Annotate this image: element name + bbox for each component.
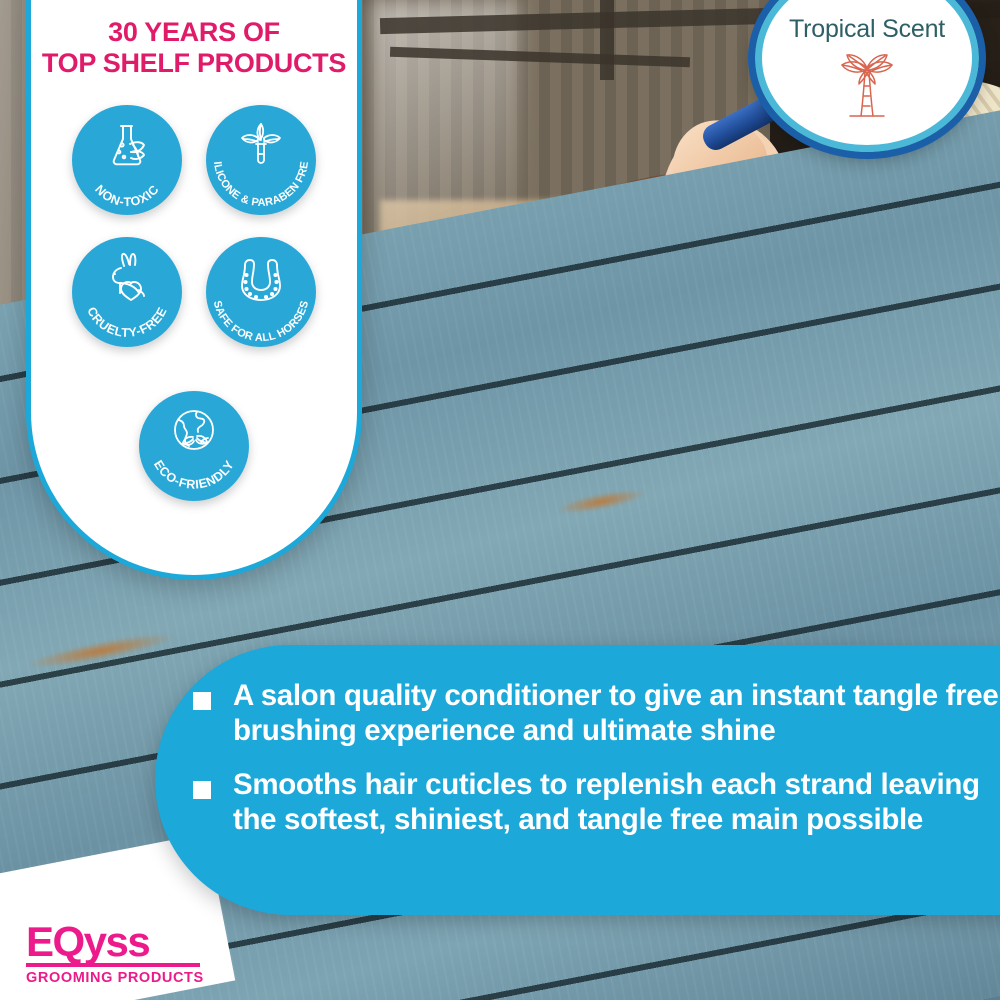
bullet-square-icon: [193, 781, 211, 799]
badge-label-arc: ECO-FRIENDLY: [139, 391, 249, 501]
svg-text:SAFE FOR ALL HORSES: SAFE FOR ALL HORSES: [211, 299, 311, 344]
badge-label-eco-friendly: ECO-FRIENDLY: [151, 457, 237, 491]
badge-label-non-toxic: NON-TOXIC: [92, 182, 162, 209]
bullet-item: A salon quality conditioner to give an i…: [193, 679, 1000, 748]
badge-cruelty-free: CRUELTY-FREE: [72, 237, 182, 347]
badge-label-silicone-paraben-free: SILICONE & PARABEN FREE: [202, 96, 311, 209]
svg-text:NON-TOXIC: NON-TOXIC: [92, 182, 162, 209]
badge-grid: NON-TOXIC: [31, 105, 357, 501]
brand-name: EQyss: [26, 922, 226, 962]
card-title-line2: TOP SHELF PRODUCTS: [37, 48, 351, 79]
badge-label-cruelty-free: CRUELTY-FREE: [84, 304, 170, 339]
card-title-line1: 30 YEARS OF: [37, 17, 351, 48]
badge-label-arc: SILICONE & PARABEN FREE: [206, 105, 316, 215]
rust-streak: [555, 485, 646, 518]
product-marketing-image: 30 YEARS OF TOP SHELF PRODUCTS: [0, 0, 1000, 1000]
svg-text:CRUELTY-FREE: CRUELTY-FREE: [84, 304, 170, 339]
svg-text:SILICONE & PARABEN FREE: SILICONE & PARABEN FREE: [202, 96, 311, 209]
badge-silicone-paraben-free: SILICONE & PARABEN FREE: [206, 105, 316, 215]
card-title: 30 YEARS OF TOP SHELF PRODUCTS: [31, 17, 357, 79]
palm-tree-icon: [828, 46, 906, 133]
rust-streak: [25, 628, 176, 674]
bullets-panel: A salon quality conditioner to give an i…: [155, 645, 1000, 915]
badge-non-toxic: NON-TOXIC: [72, 105, 182, 215]
features-card: 30 YEARS OF TOP SHELF PRODUCTS: [26, 0, 362, 580]
brand-tagline: GROOMING PRODUCTS: [26, 970, 226, 986]
bullet-item: Smooths hair cuticles to replenish each …: [193, 768, 1000, 837]
barn-beam: [600, 0, 614, 80]
badge-last-row: ECO-FRIENDLY: [49, 391, 339, 501]
badge-label-safe-for-all-horses: SAFE FOR ALL HORSES: [211, 299, 311, 344]
badge-safe-for-all-horses: SAFE FOR ALL HORSES: [206, 237, 316, 347]
badge-label-arc: SAFE FOR ALL HORSES: [206, 237, 316, 347]
bullet-text-2: Smooths hair cuticles to replenish each …: [233, 768, 1000, 837]
badge-eco-friendly: ECO-FRIENDLY: [139, 391, 249, 501]
bullet-text-1: A salon quality conditioner to give an i…: [233, 679, 1000, 748]
svg-text:ECO-FRIENDLY: ECO-FRIENDLY: [151, 457, 237, 491]
brand-logo: EQyss GROOMING PRODUCTS: [26, 922, 226, 986]
scent-badge-label: Tropical Scent: [789, 15, 945, 44]
bullet-square-icon: [193, 692, 211, 710]
badge-label-arc: NON-TOXIC: [72, 105, 182, 215]
badge-label-arc: CRUELTY-FREE: [72, 237, 182, 347]
